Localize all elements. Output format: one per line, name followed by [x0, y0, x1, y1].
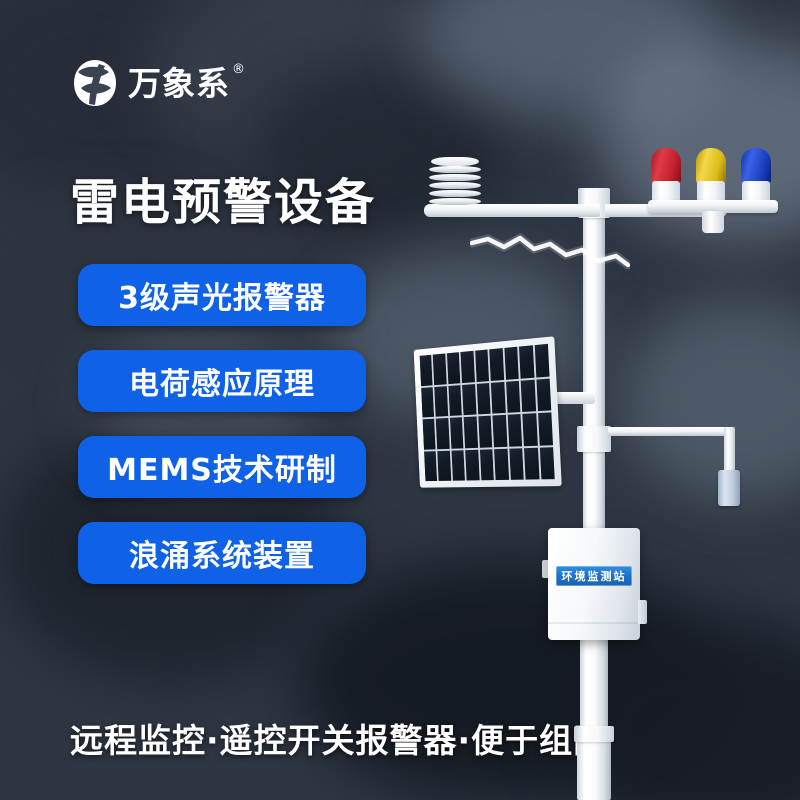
solar-cell — [436, 418, 450, 449]
lightning-bolt-icon — [470, 225, 630, 285]
solar-cell — [461, 351, 475, 383]
shield-louver — [429, 174, 481, 181]
solar-cell — [465, 449, 479, 480]
feature-label: MEMS技术研制 — [107, 445, 337, 489]
feature-pill-3[interactable]: MEMS技术研制 — [78, 436, 366, 498]
solar-cell — [491, 381, 505, 413]
solar-panel — [414, 336, 562, 487]
beacon-stem — [702, 211, 724, 233]
feature-label: 浪涌系统装置 — [129, 531, 315, 575]
three-stage-audible-visual-alarm — [648, 148, 778, 220]
solar-cell — [420, 355, 433, 386]
solar-cell — [493, 415, 507, 447]
solar-cell — [480, 449, 494, 480]
solar-cell — [464, 416, 478, 447]
blue-alarm-lamp — [741, 148, 771, 202]
red-lamp-dome — [651, 148, 681, 184]
feature-pill-1[interactable]: 3级声光报警器 — [78, 264, 366, 326]
enclosure-nameplate: 环境监测站 — [556, 566, 632, 586]
solar-cell — [507, 414, 522, 446]
yellow-alarm-lamp — [696, 148, 726, 202]
solar-cell — [451, 450, 465, 481]
poster-canvas: 万象系 ® 雷电预警设备 3级声光报警器 电荷感应原理 MEMS技术研制 浪涌系… — [0, 0, 800, 800]
right-arm-vertical — [724, 427, 735, 475]
feature-pill-4[interactable]: 浪涌系统装置 — [78, 522, 366, 584]
solar-cell — [489, 348, 503, 380]
registered-trademark-icon: ® — [232, 63, 246, 76]
solar-cell — [424, 451, 437, 481]
shield-louver — [429, 166, 481, 173]
yellow-lamp-dome — [696, 148, 726, 184]
weather-station-illustration: 环境监测站 — [380, 130, 800, 800]
cloud-shape — [420, 0, 720, 120]
feature-list: 3级声光报警器 电荷感应原理 MEMS技术研制 浪涌系统装置 — [78, 264, 366, 584]
solar-cell — [522, 413, 537, 446]
feature-pill-2[interactable]: 电荷感应原理 — [78, 350, 366, 412]
blue-lamp-dome — [741, 148, 771, 184]
brand-name: 万象系 ® — [128, 67, 230, 100]
solar-cell — [519, 345, 534, 378]
solar-cell — [494, 448, 509, 480]
shield-louver — [429, 182, 481, 189]
shield-cap — [431, 157, 479, 166]
swirl-circle-logo-icon — [72, 58, 118, 108]
feature-label: 电荷感应原理 — [129, 359, 315, 403]
enclosure-seam — [548, 622, 640, 624]
solar-cell — [521, 379, 536, 412]
solar-cell — [450, 417, 464, 448]
solar-cell — [421, 387, 434, 418]
solar-cell — [478, 416, 492, 448]
solar-cell — [447, 352, 461, 384]
solar-cell-grid — [420, 344, 555, 481]
solar-cell — [438, 450, 452, 481]
solar-cell — [534, 344, 549, 377]
solar-cell — [433, 353, 446, 384]
solar-cell — [524, 447, 539, 479]
lamp-base — [652, 181, 680, 202]
enclosure-label: 环境监测站 — [562, 568, 627, 584]
lamp-base — [697, 181, 725, 202]
shield-louver — [429, 198, 481, 205]
solar-cell — [509, 448, 524, 480]
right-arm-horizontal — [608, 427, 733, 436]
mast-base-segment — [577, 738, 611, 800]
cylindrical-sensor — [718, 470, 740, 506]
page-title: 雷电预警设备 — [70, 163, 376, 234]
solar-cell — [539, 447, 554, 480]
mast-base-clamp — [574, 726, 614, 742]
enclosure-right-bracket — [638, 600, 647, 624]
solar-cell — [462, 384, 476, 416]
solar-cell — [475, 349, 489, 381]
solar-cell — [538, 412, 553, 445]
brand-name-text: 万象系 — [128, 64, 230, 103]
radiation-shield-temp-humidity-sensor — [429, 157, 481, 207]
solar-cell — [506, 380, 521, 412]
solar-cell — [423, 419, 436, 450]
solar-cell — [435, 386, 448, 417]
solar-cell — [504, 347, 519, 380]
solar-cell — [536, 378, 551, 411]
solar-panel-arm — [555, 392, 595, 404]
solar-cell — [477, 383, 491, 415]
shield-louver — [429, 190, 481, 197]
red-alarm-lamp — [651, 148, 681, 202]
lamp-base — [742, 181, 770, 202]
brand-logo: 万象系 ® — [72, 58, 230, 108]
mast-lower-segment — [580, 630, 608, 740]
mast-middle-clamp — [577, 426, 611, 452]
feature-label: 3级声光报警器 — [118, 273, 326, 317]
solar-cell — [448, 385, 462, 416]
